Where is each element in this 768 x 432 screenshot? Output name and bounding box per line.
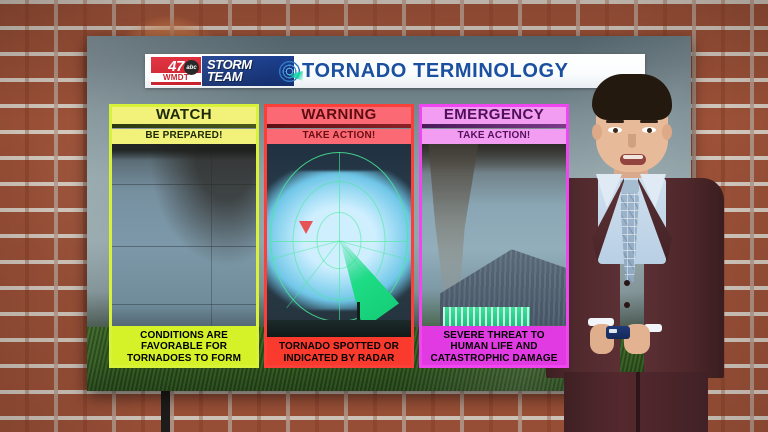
radar-sweep-icon [276, 58, 303, 85]
channel-number: 47 [168, 60, 184, 73]
terminology-columns: WATCH BE PREPARED! CONDITIONS ARE FAVORA… [109, 104, 569, 368]
nose [628, 134, 636, 148]
caption-line: INDICATED BY RADAR [266, 353, 412, 365]
photo-overcast-storm-sky [109, 144, 259, 326]
column-divider-warning [267, 124, 411, 128]
caption-line: CONDITIONS ARE [111, 330, 257, 342]
caption-line: CATASTROPHIC DAMAGE [421, 353, 567, 365]
column-warning[interactable]: WARNING TAKE ACTION! TORNADO SPO [264, 104, 414, 368]
eye-right [642, 127, 656, 133]
hair [592, 74, 672, 120]
column-heading-watch: WATCH [109, 104, 259, 124]
photo-doppler-radar [264, 144, 414, 337]
caption-line: FAVORABLE FOR [111, 341, 257, 353]
ear-left [592, 124, 602, 140]
eyebrow-left [606, 120, 624, 123]
column-caption-warning: TORNADO SPOTTED OR INDICATED BY RADAR [264, 337, 414, 368]
station-logo: 47 WMDT abc STORM TEAM [150, 56, 294, 86]
necktie [620, 186, 639, 282]
abc-network-icon: abc [184, 60, 199, 75]
column-emergency[interactable]: EMERGENCY TAKE ACTION! SEVERE THREAT TO … [419, 104, 569, 368]
ear-right [662, 124, 672, 140]
column-watch[interactable]: WATCH BE PREPARED! CONDITIONS ARE FAVORA… [109, 104, 259, 368]
suit-trousers [564, 372, 708, 432]
presentation-clicker[interactable] [606, 326, 630, 339]
column-heading-warning: WARNING [264, 104, 414, 124]
caption-line: SEVERE THREAT TO [421, 330, 567, 342]
page-title: TORNADO TERMINOLOGY [302, 60, 569, 83]
caption-line: TORNADO SPOTTED OR [266, 341, 412, 353]
monitor-stand-left [161, 390, 170, 432]
column-heading-emergency: EMERGENCY [419, 104, 569, 124]
tornado-marker-icon [299, 221, 313, 234]
mouth [620, 154, 646, 165]
column-divider-emergency [422, 124, 566, 128]
eyebrow-right [640, 120, 658, 123]
caption-line: TORNADOES TO FORM [111, 353, 257, 365]
column-subheading-warning: TAKE ACTION! [264, 129, 414, 144]
column-divider-watch [112, 124, 256, 128]
caption-line: HUMAN LIFE AND [421, 341, 567, 353]
meteorologist-presenter [540, 74, 768, 432]
storm-team-badge: STORM TEAM [202, 56, 294, 86]
channel-47-badge: 47 WMDT abc [150, 56, 202, 86]
jacket-button-top [624, 280, 630, 286]
photo-tornado-over-house [419, 144, 569, 326]
jacket-button-bottom [624, 302, 630, 308]
column-subheading-emergency: TAKE ACTION! [419, 129, 569, 144]
column-caption-emergency: SEVERE THREAT TO HUMAN LIFE AND CATASTRO… [419, 326, 569, 369]
eye-left [608, 127, 622, 133]
radar-foreground-ground [264, 320, 414, 337]
house-siding [443, 307, 530, 325]
column-subheading-watch: BE PREPARED! [109, 129, 259, 144]
column-caption-watch: CONDITIONS ARE FAVORABLE FOR TORNADOES T… [109, 326, 259, 369]
